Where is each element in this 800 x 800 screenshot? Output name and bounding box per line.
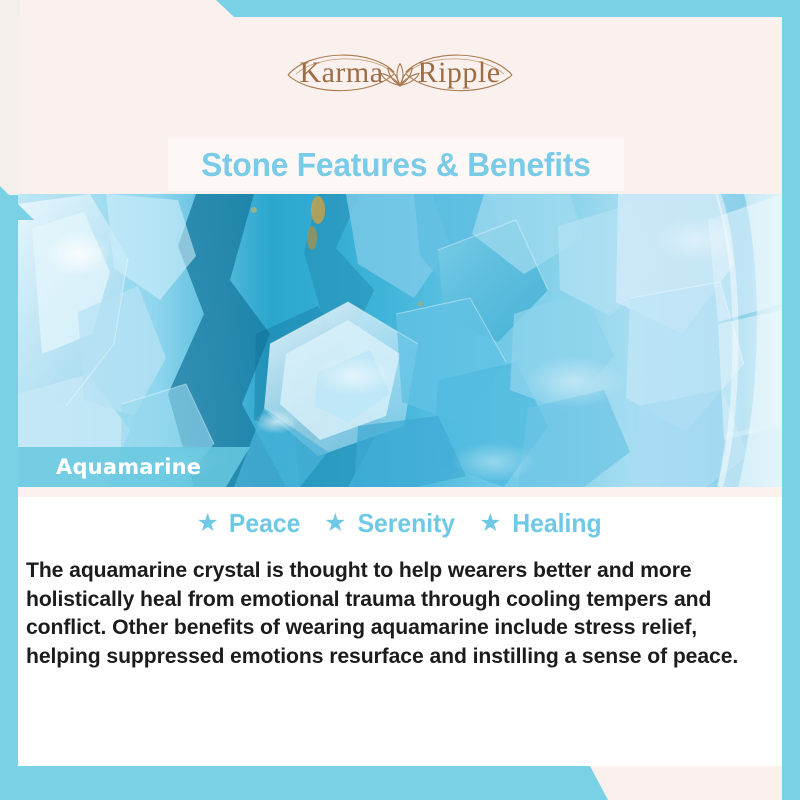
brand-logo: Karma Ripple	[280, 41, 520, 105]
bottom-white-field	[18, 692, 782, 766]
keyword-item-healing: ★ Healing	[479, 508, 603, 539]
outer-left-margin	[0, 0, 20, 200]
stone-name: Aquamarine	[18, 455, 201, 479]
star-icon: ★	[324, 511, 346, 536]
brand-name-right: Ripple	[418, 56, 501, 90]
crystal-photo	[18, 194, 782, 487]
keyword-label: Healing	[512, 508, 601, 539]
brand-name-left: Karma	[299, 56, 383, 90]
decor-left-band	[0, 195, 18, 800]
keyword-item-serenity: ★ Serenity	[324, 508, 457, 539]
description-text: The aquamarine crystal is thought to hel…	[26, 556, 757, 670]
decor-bottom-left-band	[0, 766, 800, 800]
stone-name-banner: Aquamarine	[18, 447, 258, 487]
section-title-band: Stone Features & Benefits	[168, 138, 624, 191]
star-icon: ★	[197, 511, 219, 536]
keyword-label: Serenity	[357, 508, 454, 539]
decor-top-right-band	[0, 0, 800, 17]
star-icon: ★	[479, 511, 501, 536]
crystal-photo-art	[18, 194, 782, 487]
keyword-list: ★ Peace ★ Serenity ★ Healing	[18, 508, 782, 539]
page-title: Stone Features & Benefits	[201, 146, 591, 184]
keyword-item-peace: ★ Peace	[197, 508, 303, 539]
decor-right-band	[782, 0, 800, 800]
brand-header: Karma Ripple	[18, 17, 782, 129]
keyword-label: Peace	[229, 508, 300, 539]
infographic-canvas: Karma Ripple Stone Features & Benefits	[0, 0, 800, 800]
lotus-icon	[378, 59, 422, 89]
